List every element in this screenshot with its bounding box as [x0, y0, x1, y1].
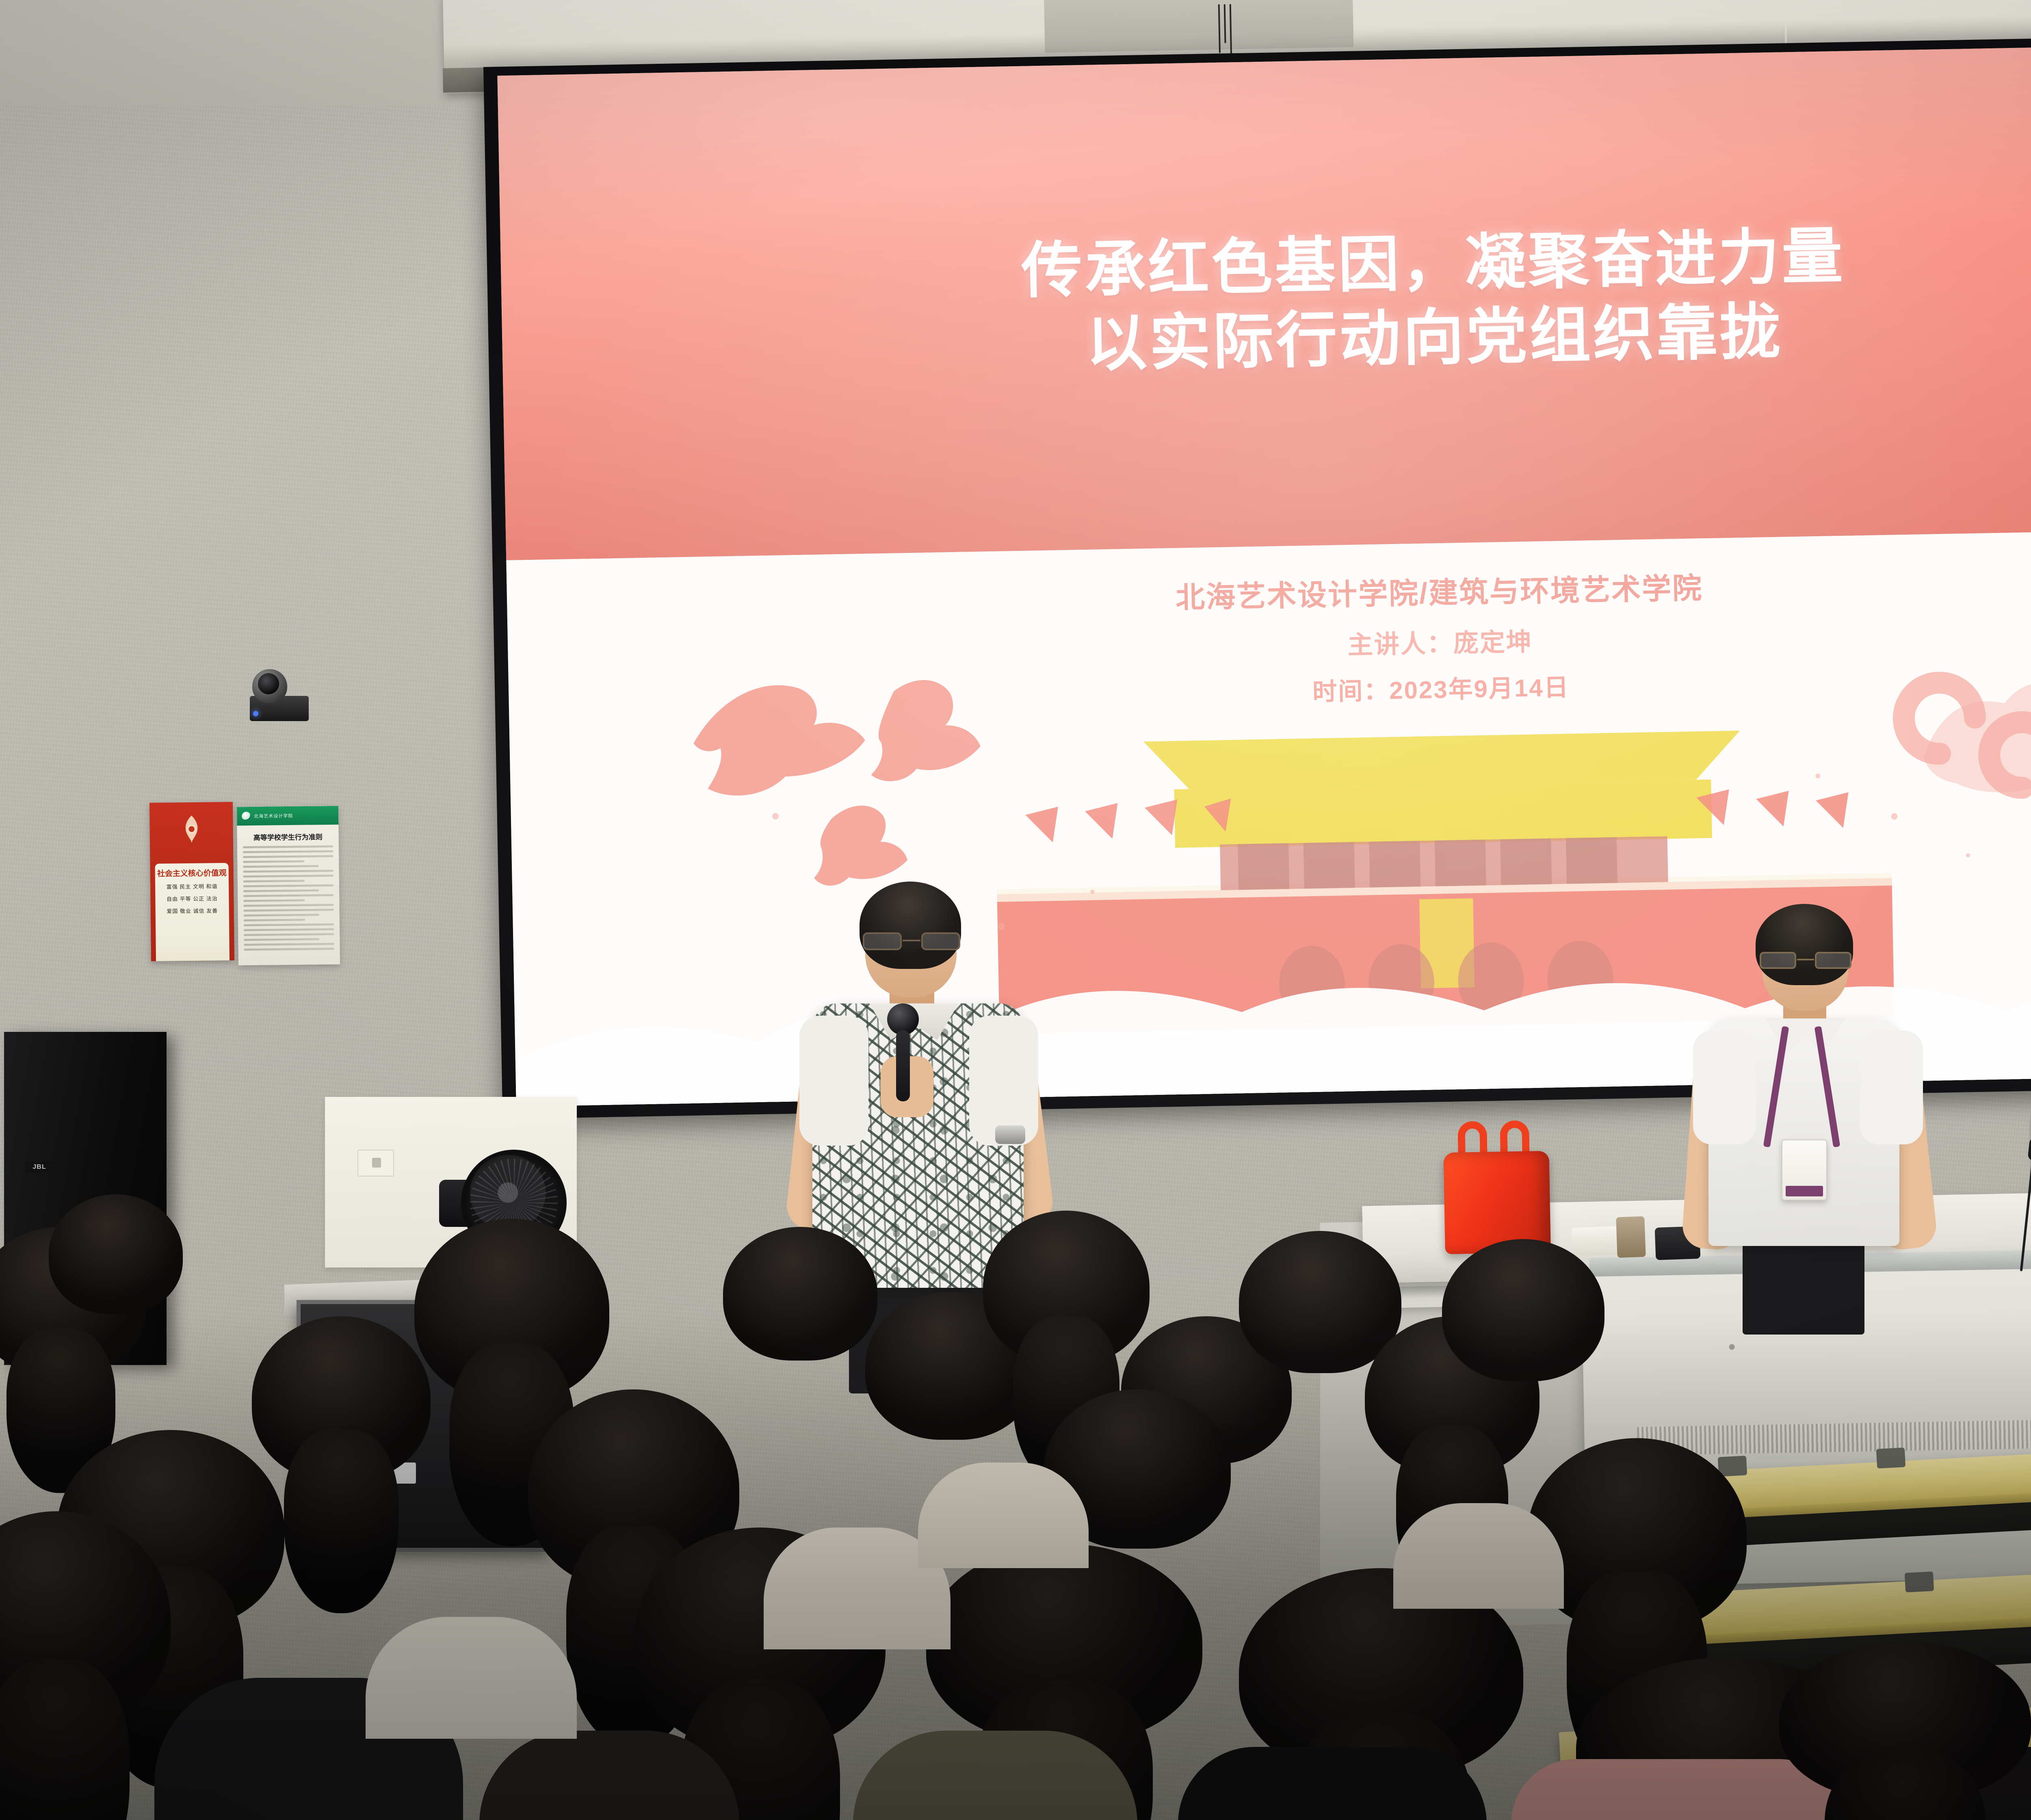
core-values-plaque: 社会主义核心价值观 富强 民主 文明 和谐 自由 平等 公正 法治 爱国 敬业 … [155, 863, 230, 961]
glasses-icon [1760, 952, 1851, 970]
desk-object [1616, 1216, 1646, 1258]
audience-member [252, 1316, 431, 1552]
lecture-hall-photo: 传承红色基因，凝聚奋进力量 以实际行动向党组织靠拢 北海艺术设计学院/建筑与环境… [0, 0, 2031, 1820]
camera-icon-left [242, 666, 309, 721]
core-values-title: 社会主义核心价值观 [155, 869, 229, 879]
mic-body [896, 1030, 910, 1101]
audience-shoulders [1393, 1503, 1564, 1609]
host-sleeve-left [1693, 1031, 1756, 1144]
speaker-hair [860, 882, 961, 969]
slide-title-block: 传承红色基因，凝聚奋进力量 以实际行动向党组织靠拢 [497, 41, 2031, 560]
audience-shoulders [366, 1617, 577, 1739]
handheld-microphone-icon[interactable] [887, 1003, 919, 1105]
board-header: 北海艺术设计学院 [237, 806, 338, 826]
audience-member [49, 1194, 183, 1365]
school-logo-icon [242, 812, 251, 821]
desk-bracket [1905, 1571, 1934, 1592]
ceiling-cables [1218, 4, 1244, 61]
audience-member [723, 1227, 877, 1418]
id-badge [1782, 1140, 1827, 1200]
audience-member [0, 1511, 171, 1820]
board-header-text: 北海艺术设计学院 [254, 812, 293, 819]
screen-housing-slot [1044, 0, 1353, 53]
host-sleeve-right [1860, 1031, 1923, 1144]
camera-lens [258, 673, 279, 694]
audience-shoulders [1178, 1747, 1487, 1820]
core-values-row-3: 爱国 敬业 诚信 友善 [156, 907, 229, 916]
slide-title-line-2: 以实际行动向党组织靠拢 [1085, 300, 1784, 377]
core-values-row-1: 富强 民主 文明 和谐 [155, 882, 229, 891]
glasses-icon [863, 932, 960, 951]
speaker-sleeve-left [799, 1016, 868, 1146]
board-body-text [237, 845, 340, 951]
audience-shoulders [918, 1462, 1089, 1568]
speaker-brand-logo: JBL [25, 1162, 54, 1172]
host-hair [1756, 904, 1853, 985]
audience-member [1442, 1239, 1604, 1442]
poster-emblem-icon [177, 814, 206, 846]
wristwatch-icon [995, 1125, 1025, 1144]
core-values-poster: 社会主义核心价值观 富强 民主 文明 和谐 自由 平等 公正 法治 爱国 敬业 … [149, 802, 234, 961]
student-code-board: 北海艺术设计学院 高等学校学生行为准则 [237, 806, 340, 966]
camera-status-led [253, 711, 258, 716]
podium-lock [1729, 1344, 1734, 1350]
core-values-row-2: 自由 平等 公正 法治 [155, 895, 229, 903]
desk-bracket [1876, 1447, 1905, 1469]
presenter-host [1686, 904, 1921, 1310]
wall-outlet [357, 1150, 394, 1176]
board-title: 高等学校学生行为准则 [237, 831, 339, 843]
slide-title-line-1: 传承红色基因，凝聚奋进力量 [1021, 224, 1846, 303]
red-plastic-bag[interactable] [1443, 1118, 1551, 1254]
audience-member [1779, 1641, 2031, 1820]
